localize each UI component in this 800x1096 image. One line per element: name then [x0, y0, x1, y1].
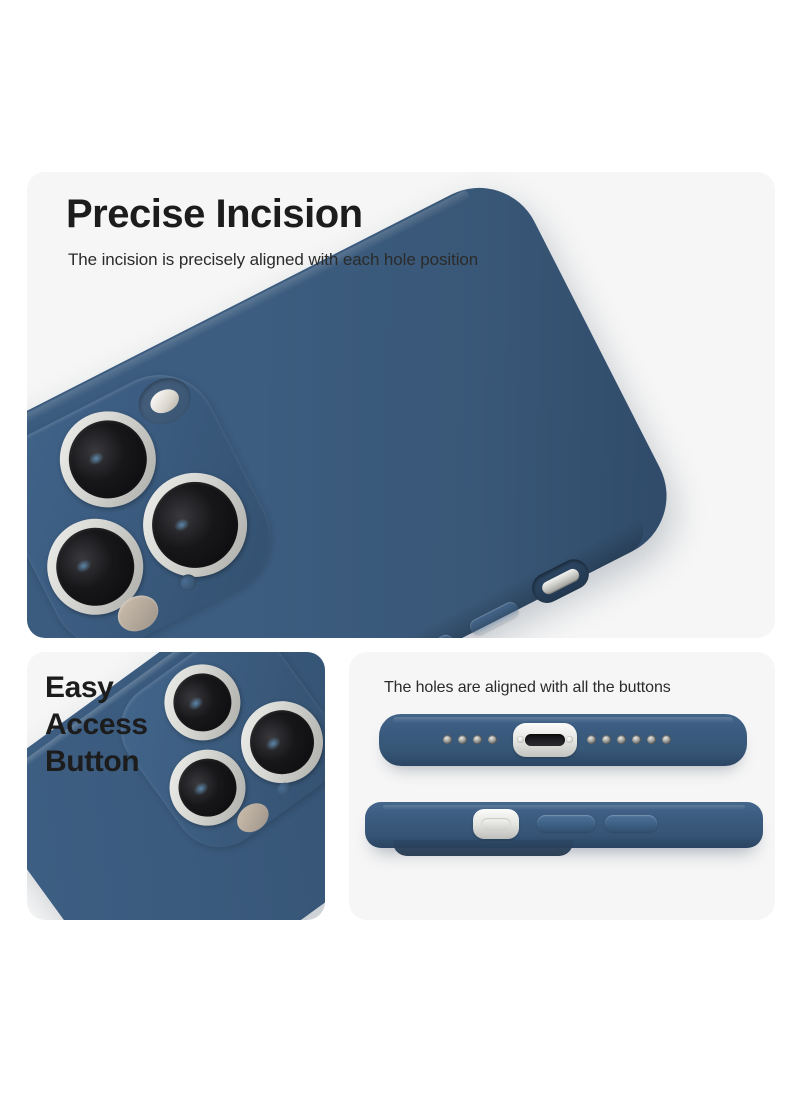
volume-up-button [537, 815, 595, 832]
phone-case-main-image [27, 172, 688, 638]
screw-dot-icon [517, 736, 524, 743]
lens-glint [172, 515, 192, 533]
panel-precise-incision: Precise Incision The incision is precise… [27, 172, 775, 638]
speaker-hole-icon [473, 735, 482, 744]
product-feature-page: Precise Incision The incision is precise… [0, 0, 800, 1096]
speaker-hole-icon [647, 735, 656, 744]
page-title: Precise Incision [66, 194, 363, 234]
speaker-hole-icon [602, 735, 611, 744]
lens-glint [264, 734, 284, 753]
panel-title-easy-access: Easy Access Button [45, 670, 148, 781]
case-body [27, 172, 688, 638]
mute-switch-icon [481, 818, 511, 831]
panel-holes-aligned: The holes are aligned with all the butto… [349, 652, 775, 920]
lens-glint [74, 558, 94, 576]
speaker-hole-icon [458, 735, 467, 744]
speaker-hole-icon [632, 735, 641, 744]
volume-down-button [605, 815, 657, 832]
case-bottom-edge-view [379, 714, 747, 766]
charging-port-cutout [513, 723, 577, 757]
screw-dot-icon [566, 736, 573, 743]
panel-title-holes-aligned: The holes are aligned with all the butto… [384, 679, 671, 697]
charging-port-opening [525, 734, 565, 746]
lens-glint [190, 779, 210, 798]
case-lip-shadow [393, 840, 573, 856]
page-subtitle: The incision is precisely aligned with e… [68, 250, 478, 270]
microphone-hole-group [443, 735, 497, 744]
case-side-edge-view [365, 802, 763, 848]
case-edge-highlight [383, 805, 745, 810]
panel-easy-access-button: Easy Access Button [27, 652, 325, 920]
speaker-hole-icon [587, 735, 596, 744]
port-metal-insert [540, 566, 582, 596]
speaker-hole-icon [617, 735, 626, 744]
speaker-hole-icon [488, 735, 497, 744]
lens-glint [185, 694, 205, 713]
speaker-hole-icon [662, 735, 671, 744]
speaker-hole-group [587, 735, 671, 744]
mute-switch-cutout [473, 809, 519, 839]
speaker-hole-icon [443, 735, 452, 744]
lens-glint [86, 450, 106, 468]
